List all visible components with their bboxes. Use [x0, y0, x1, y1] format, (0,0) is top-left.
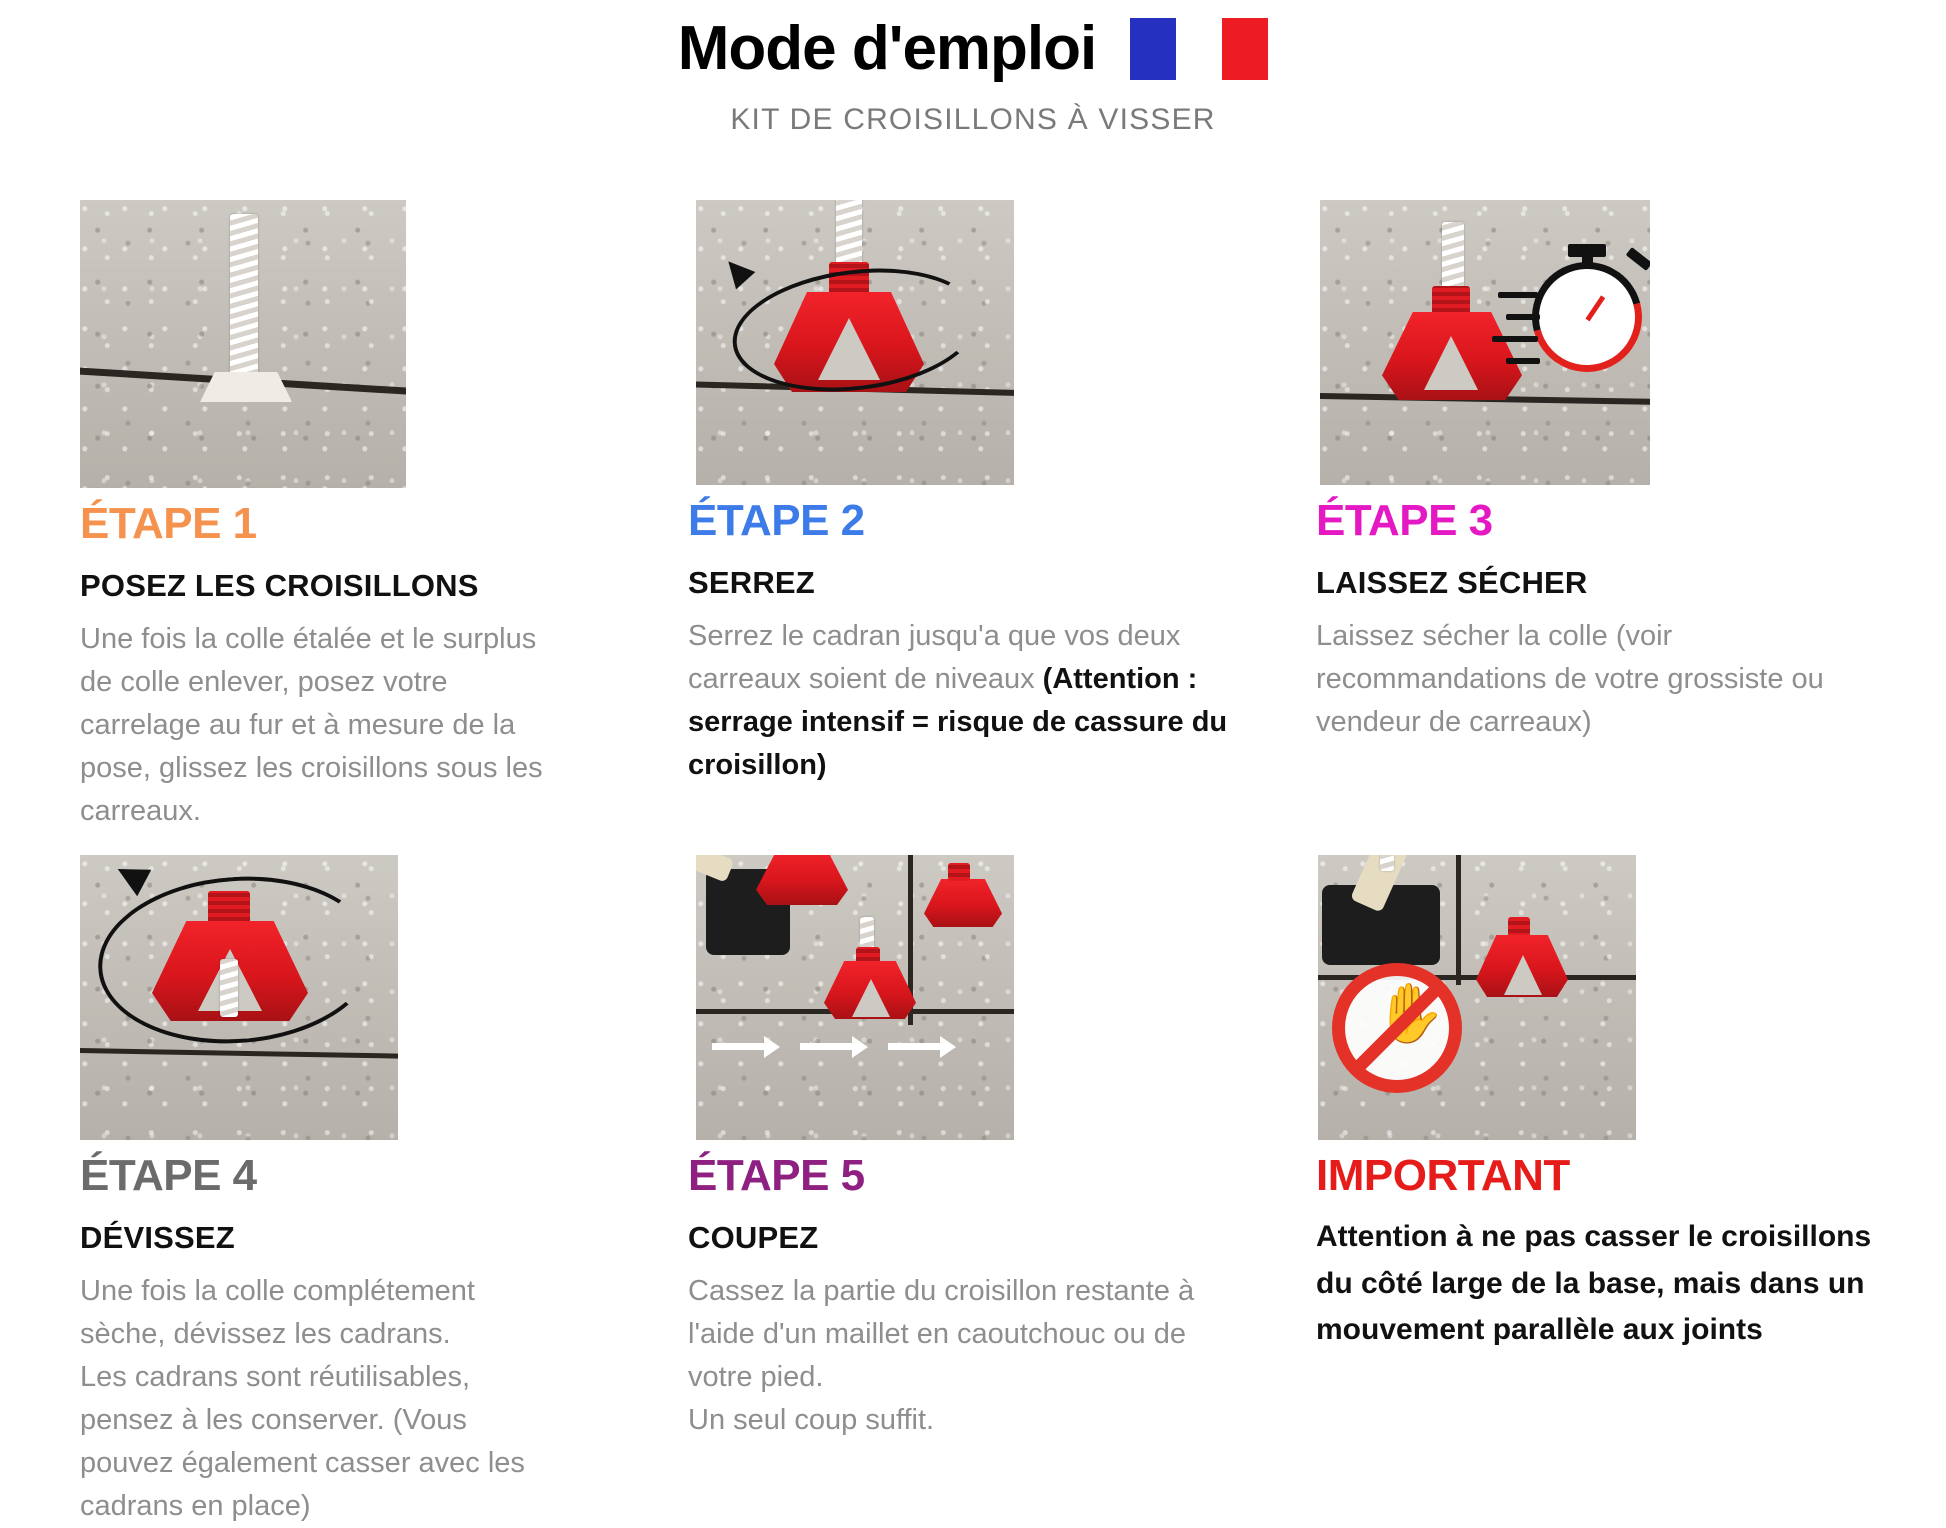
step-3-title: LAISSEZ SÉCHER — [1316, 561, 1884, 605]
flag-stripe-red — [1222, 18, 1268, 80]
step-5-label: ÉTAPE 5 — [688, 1152, 1236, 1200]
steps-grid: ÉTAPE 1 POSEZ LES CROISILLONS Une fois l… — [0, 200, 1946, 1528]
white-spacer-base — [200, 372, 292, 402]
step-4-title: DÉVISSEZ — [80, 1216, 558, 1260]
speed-line — [1506, 314, 1540, 320]
step-2-image — [696, 200, 1014, 485]
cap-knob — [1432, 286, 1470, 316]
speed-line — [1506, 358, 1540, 364]
step-2-title: SERREZ — [688, 561, 1236, 605]
step-2-body: Serrez le cadran jusqu'a que vos deux ca… — [688, 615, 1236, 787]
instruction-sheet: Mode d'emploi KIT DE CROISILLONS À VISSE… — [0, 0, 1946, 1505]
title-row: Mode d'emploi — [0, 16, 1946, 81]
step-5-title: COUPEZ — [688, 1216, 1236, 1260]
cap-knob — [948, 863, 970, 881]
step-3-image — [1320, 200, 1650, 485]
step-1-title: POSEZ LES CROISILLONS — [80, 564, 558, 608]
step-card-1: ÉTAPE 1 POSEZ LES CROISILLONS Une fois l… — [0, 200, 648, 833]
important-image: ✋ — [1318, 855, 1636, 1140]
grout-line-vertical — [1456, 855, 1461, 985]
flag-stripe-blue — [1130, 18, 1176, 80]
page-subtitle: KIT DE CROISILLONS À VISSER — [0, 103, 1946, 137]
step-card-5: ÉTAPE 5 COUPEZ Cassez la partie du crois… — [648, 855, 1296, 1528]
step-4-label: ÉTAPE 4 — [80, 1152, 558, 1200]
white-screw-icon — [836, 200, 862, 266]
cap-knob — [1508, 917, 1530, 937]
direction-arrow-icon — [800, 1043, 854, 1050]
step-card-3: ÉTAPE 3 LAISSEZ SÉCHER Laissez sécher la… — [1296, 200, 1944, 833]
step-card-4: ÉTAPE 4 DÉVISSEZ Une fois la colle compl… — [0, 855, 648, 1528]
step-4-body: Une fois la colle complétement sèche, dé… — [80, 1270, 558, 1527]
step-5-body: Cassez la partie du croisillon restante … — [688, 1270, 1236, 1442]
stopwatch-stem — [1582, 252, 1593, 266]
steps-row-2: ÉTAPE 4 DÉVISSEZ Une fois la colle compl… — [0, 855, 1946, 1528]
direction-arrow-icon — [888, 1043, 942, 1050]
white-screw-icon — [1442, 222, 1464, 292]
step-4-image — [80, 855, 398, 1140]
step-5-image — [696, 855, 1014, 1140]
direction-arrow-head — [764, 1036, 780, 1058]
french-flag-icon — [1130, 18, 1268, 80]
page-header: Mode d'emploi KIT DE CROISILLONS À VISSE… — [0, 0, 1946, 137]
direction-arrow-head — [852, 1036, 868, 1058]
direction-arrow-head — [940, 1036, 956, 1058]
step-2-label: ÉTAPE 2 — [688, 497, 1236, 545]
step-1-label: ÉTAPE 1 — [80, 500, 558, 548]
step-card-2: ÉTAPE 2 SERREZ Serrez le cadran jusqu'a … — [648, 200, 1296, 833]
step-3-body: Laissez sécher la colle (voir recommanda… — [1316, 615, 1884, 744]
white-screw-icon — [860, 917, 874, 951]
steps-row-1: ÉTAPE 1 POSEZ LES CROISILLONS Une fois l… — [0, 200, 1946, 833]
page-title: Mode d'emploi — [678, 16, 1097, 81]
white-screw-icon — [230, 214, 258, 379]
important-body: Attention à ne pas casser le croisillons… — [1316, 1214, 1884, 1354]
white-screw-icon — [1380, 855, 1394, 871]
important-card: ✋ IMPORTANT Attention à ne pas casser le… — [1296, 855, 1944, 1528]
speed-line — [1492, 336, 1538, 342]
important-label: IMPORTANT — [1316, 1152, 1884, 1200]
step-3-label: ÉTAPE 3 — [1316, 497, 1884, 545]
speed-line — [1498, 292, 1538, 298]
flag-stripe-white — [1176, 18, 1222, 80]
step-1-image — [80, 200, 406, 488]
step-1-body: Une fois la colle étalée et le surplus d… — [80, 618, 558, 833]
direction-arrow-icon — [712, 1043, 766, 1050]
